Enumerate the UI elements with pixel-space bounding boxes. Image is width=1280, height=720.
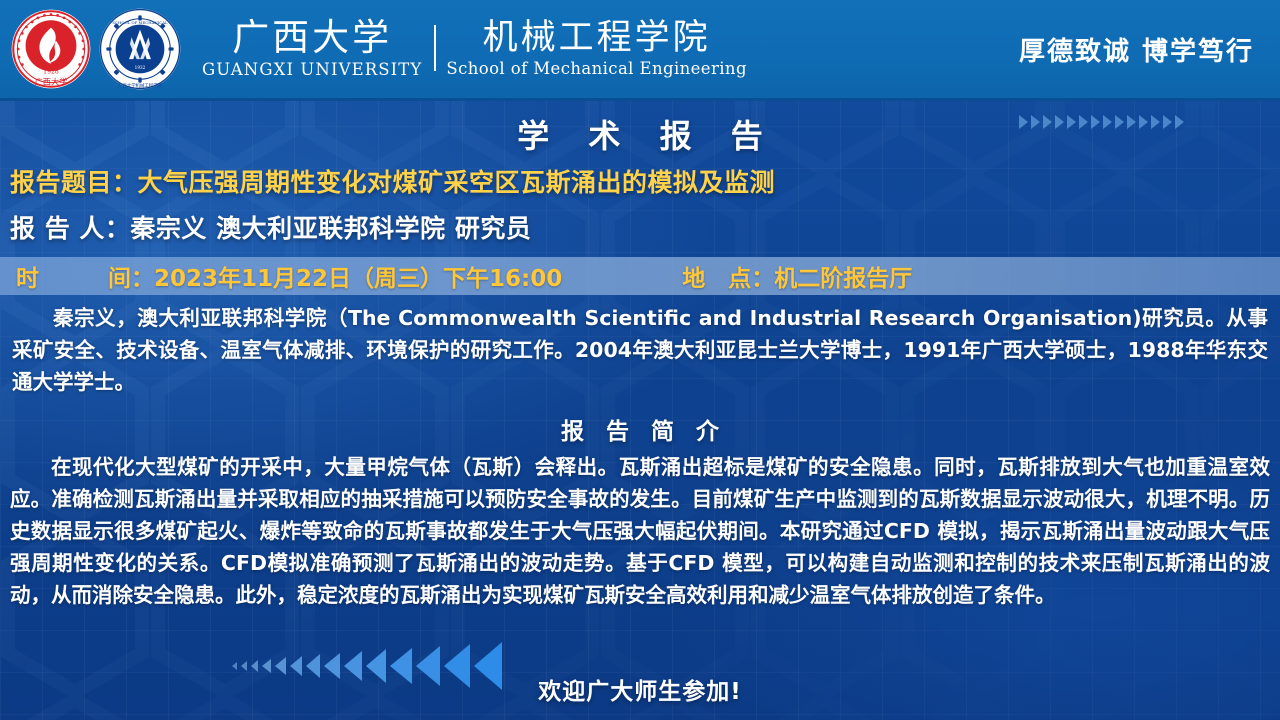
svg-text:1928: 1928 <box>43 69 59 76</box>
report-title: 报告题目：大气压强周期性变化对煤矿采空区瓦斯涌出的模拟及监测 <box>0 159 1280 199</box>
university-name-cn: 广西大学 <box>232 19 392 58</box>
main-title-row: 学 术 报 告 <box>0 101 1280 159</box>
abstract-body: 在现代化大型煤矿的开采中，大量甲烷气体（瓦斯）会释出。瓦斯涌出超标是煤矿的安全隐… <box>0 446 1280 612</box>
school-of-mechanical-engineering-badge-icon: 1932 SCHOOL OF MECHANICAL 广西大学机械工程学院 <box>98 7 182 91</box>
university-motto: 厚德致诚 博学笃行 <box>1019 31 1280 68</box>
poster-canvas: 1928 广西大学 <box>0 0 1280 720</box>
speaker-biography: 秦宗义，澳大利亚联邦科学院（The Commonwealth Scientifi… <box>0 295 1280 398</box>
chevron-right-decoration <box>1019 115 1184 129</box>
guangxi-university-seal-icon: 1928 广西大学 <box>10 8 92 90</box>
school-name-block: 机械工程学院 School of Mechanical Engineering <box>446 19 747 80</box>
header-branding: 1928 广西大学 <box>0 7 747 91</box>
name-divider <box>434 25 436 72</box>
abstract-heading: 报 告 简 介 <box>0 412 1280 446</box>
svg-text:广西大学: 广西大学 <box>35 76 68 86</box>
event-time: 时 间：2023年11月22日（周三）下午16:00 <box>0 259 562 293</box>
svg-text:SCHOOL OF MECHANICAL: SCHOOL OF MECHANICAL <box>112 20 168 25</box>
university-name-en: GUANGXI UNIVERSITY <box>202 60 422 79</box>
university-name-block: 广西大学 GUANGXI UNIVERSITY <box>198 19 434 80</box>
school-name-cn: 机械工程学院 <box>483 20 711 57</box>
speaker-line: 报 告 人：秦宗义 澳大利亚联邦科学院 研究员 <box>0 199 1280 245</box>
time-and-place-bar: 时 间：2023年11月22日（周三）下午16:00 地 点：机二阶报告厅 <box>0 257 1280 295</box>
school-name-en: School of Mechanical Engineering <box>446 59 747 78</box>
event-place: 地 点：机二阶报告厅 <box>682 259 912 293</box>
svg-text:1932: 1932 <box>135 65 146 70</box>
welcome-message: 欢迎广大师生参加! <box>0 672 1280 706</box>
institution-names: 广西大学 GUANGXI UNIVERSITY 机械工程学院 School of… <box>198 19 747 80</box>
page-footer: 欢迎广大师生参加! <box>0 634 1280 720</box>
page-header: 1928 广西大学 <box>0 0 1280 101</box>
